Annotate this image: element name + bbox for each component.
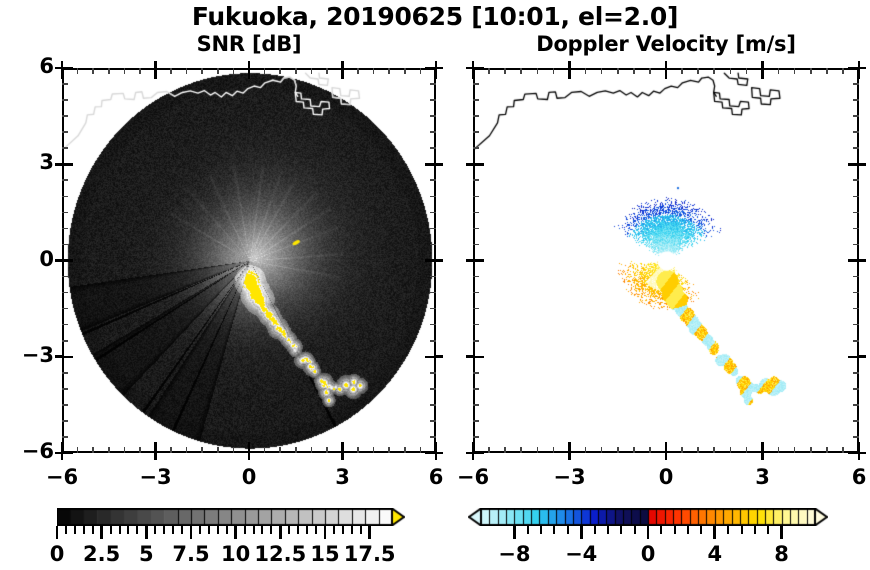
axis-tick xyxy=(488,447,490,453)
axis-tick xyxy=(746,447,748,453)
colorbar-minor-tick xyxy=(163,526,165,534)
axis-tick xyxy=(430,292,436,294)
axis-tick xyxy=(62,244,68,246)
colorbar-minor-tick xyxy=(607,526,609,534)
axis-tick xyxy=(248,68,251,79)
colorbar-minor-tick xyxy=(208,526,210,534)
axis-tick xyxy=(341,442,344,453)
axis-tick xyxy=(473,420,479,422)
axis-tick xyxy=(264,447,266,453)
axis-tick xyxy=(553,68,555,74)
axis-tick xyxy=(859,452,866,455)
axis-tick xyxy=(473,147,479,149)
axis-tick xyxy=(404,447,406,453)
axis-tick xyxy=(62,372,68,374)
axis-tick xyxy=(430,308,436,310)
colorbar-minor-tick xyxy=(634,526,636,534)
axis-tick xyxy=(55,259,62,262)
colorbar-minor-tick xyxy=(620,526,622,534)
axis-tick xyxy=(853,308,859,310)
colorbar-minor-tick xyxy=(553,526,555,534)
axis-tick xyxy=(154,442,157,453)
axis-tick xyxy=(473,436,479,438)
x-axis-tick-label: −3 xyxy=(126,465,186,489)
axis-tick xyxy=(473,131,479,133)
axis-tick xyxy=(853,228,859,230)
axis-tick xyxy=(233,447,235,453)
axis-tick xyxy=(810,68,812,74)
axis-tick xyxy=(62,196,68,198)
y-axis-tick-label: 6 xyxy=(10,54,54,78)
x-axis-tick-label: 0 xyxy=(636,465,696,489)
axis-tick xyxy=(853,83,859,85)
axis-tick xyxy=(473,259,484,262)
colorbar-minor-tick xyxy=(199,526,201,534)
axis-tick xyxy=(420,447,422,453)
axis-tick xyxy=(473,340,479,342)
axis-tick xyxy=(697,68,699,74)
axis-tick xyxy=(853,404,859,406)
axis-tick xyxy=(62,212,68,214)
axis-tick xyxy=(601,68,603,74)
colorbar-tick-label: 17.5 xyxy=(330,542,410,566)
axis-tick xyxy=(472,68,475,79)
colorbar-minor-tick xyxy=(253,526,255,534)
axis-tick xyxy=(778,68,780,74)
colorbar-minor-tick xyxy=(351,526,353,534)
axis-tick xyxy=(473,324,479,326)
axis-tick xyxy=(746,68,748,74)
axis-tick xyxy=(761,453,764,460)
axis-tick xyxy=(430,131,436,133)
colorbar-minor-tick xyxy=(154,526,156,534)
axis-tick xyxy=(730,447,732,453)
axis-tick xyxy=(425,259,436,262)
axis-tick xyxy=(430,388,436,390)
colorbar-minor-tick xyxy=(127,526,129,534)
axis-tick xyxy=(62,308,68,310)
axis-tick xyxy=(473,163,484,166)
axis-tick xyxy=(139,68,141,74)
axis-tick xyxy=(388,447,390,453)
colorbar-tick-label: 8 xyxy=(742,542,822,566)
axis-tick xyxy=(436,355,443,358)
axis-tick xyxy=(585,68,587,74)
axis-tick xyxy=(617,447,619,453)
axis-tick xyxy=(62,147,68,149)
axis-tick xyxy=(62,179,68,181)
axis-tick xyxy=(61,68,64,79)
axis-tick xyxy=(373,447,375,453)
axis-tick xyxy=(388,68,390,74)
axis-tick xyxy=(853,420,859,422)
axis-tick xyxy=(859,163,866,166)
axis-tick xyxy=(430,83,436,85)
axis-tick xyxy=(466,163,473,166)
axis-tick xyxy=(217,68,219,74)
colorbar-minor-tick xyxy=(181,526,183,534)
colorbar-minor-tick xyxy=(315,526,317,534)
axis-tick xyxy=(326,447,328,453)
axis-tick xyxy=(842,447,844,453)
axis-tick xyxy=(617,68,619,74)
axis-tick xyxy=(473,308,479,310)
axis-tick xyxy=(201,68,203,74)
axis-tick xyxy=(848,259,859,262)
axis-tick xyxy=(853,292,859,294)
axis-tick xyxy=(154,61,157,68)
axis-tick xyxy=(62,131,68,133)
axis-tick xyxy=(858,68,861,79)
axis-tick xyxy=(430,228,436,230)
colorbar-minor-tick xyxy=(333,526,335,534)
colorbar-minor-tick xyxy=(567,526,569,534)
axis-tick xyxy=(248,453,251,460)
x-axis-tick-label: 6 xyxy=(829,465,870,489)
axis-tick xyxy=(436,259,443,262)
colorbar-minor-tick xyxy=(342,526,344,534)
axis-tick xyxy=(473,115,479,117)
axis-tick xyxy=(186,447,188,453)
axis-tick xyxy=(473,372,479,374)
axis-tick xyxy=(430,212,436,214)
axis-tick xyxy=(62,276,68,278)
colorbar-major-tick xyxy=(145,526,148,539)
colorbar-minor-tick xyxy=(674,526,676,534)
axis-tick xyxy=(853,147,859,149)
axis-tick xyxy=(55,163,62,166)
axis-tick xyxy=(341,453,344,460)
axis-tick xyxy=(848,163,859,166)
axis-tick xyxy=(473,404,479,406)
axis-tick xyxy=(568,68,571,79)
axis-tick xyxy=(649,68,651,74)
colorbar-major-tick xyxy=(713,526,716,539)
axis-tick xyxy=(633,447,635,453)
axis-tick xyxy=(853,212,859,214)
axis-tick xyxy=(520,447,522,453)
axis-tick xyxy=(201,447,203,453)
colorbar-major-tick xyxy=(324,526,327,539)
axis-tick xyxy=(436,163,443,166)
axis-tick xyxy=(713,68,715,74)
axis-tick xyxy=(730,68,732,74)
colorbar-minor-tick xyxy=(270,526,272,534)
axis-tick xyxy=(601,447,603,453)
axis-tick xyxy=(466,259,473,262)
axis-tick xyxy=(62,83,68,85)
colorbar-minor-tick xyxy=(110,526,112,534)
axis-tick xyxy=(826,447,828,453)
axis-tick xyxy=(124,447,126,453)
axis-tick xyxy=(108,447,110,453)
colorbar-minor-tick xyxy=(360,526,362,534)
axis-tick xyxy=(761,442,764,453)
colorbar-major-tick xyxy=(647,526,650,539)
y-axis-tick-label: 0 xyxy=(10,247,54,271)
axis-tick xyxy=(154,453,157,460)
axis-tick xyxy=(430,244,436,246)
axis-tick xyxy=(537,68,539,74)
axis-tick xyxy=(420,68,422,74)
axis-tick xyxy=(430,196,436,198)
colorbar-minor-tick xyxy=(594,526,596,534)
axis-tick xyxy=(62,228,68,230)
colorbar-major-tick xyxy=(368,526,371,539)
colorbar-minor-tick xyxy=(65,526,67,534)
axis-tick xyxy=(430,324,436,326)
axis-tick xyxy=(62,163,73,166)
colorbar-minor-tick xyxy=(540,526,542,534)
axis-tick xyxy=(436,67,443,70)
axis-tick xyxy=(466,452,473,455)
axis-tick xyxy=(341,68,344,79)
axis-tick xyxy=(62,67,73,70)
axis-tick xyxy=(311,447,313,453)
colorbar-minor-tick xyxy=(306,526,308,534)
colorbar-major-tick xyxy=(780,526,783,539)
axis-tick xyxy=(430,115,436,117)
x-axis-tick-label: −3 xyxy=(540,465,600,489)
axis-tick xyxy=(504,447,506,453)
axis-tick xyxy=(248,61,251,68)
velocity-plot-area[interactable] xyxy=(473,68,859,453)
colorbar-minor-tick xyxy=(527,526,529,534)
axis-tick xyxy=(473,179,479,181)
axis-tick xyxy=(853,340,859,342)
axis-tick xyxy=(436,452,443,455)
axis-tick xyxy=(92,447,94,453)
axis-tick xyxy=(473,196,479,198)
axis-tick xyxy=(186,68,188,74)
axis-tick xyxy=(430,179,436,181)
axis-tick xyxy=(853,388,859,390)
axis-tick xyxy=(473,388,479,390)
axis-tick xyxy=(681,68,683,74)
colorbar-minor-tick xyxy=(226,526,228,534)
axis-tick xyxy=(430,147,436,149)
axis-tick xyxy=(665,68,668,79)
axis-tick xyxy=(853,324,859,326)
colorbar-minor-tick xyxy=(727,526,729,534)
axis-tick xyxy=(553,447,555,453)
colorbar-minor-tick xyxy=(288,526,290,534)
axis-tick xyxy=(373,68,375,74)
x-axis-tick-label: −6 xyxy=(32,465,92,489)
axis-tick xyxy=(697,447,699,453)
axis-tick xyxy=(473,452,484,455)
axis-tick xyxy=(473,212,479,214)
velocity-radar-image xyxy=(475,70,859,453)
axis-tick xyxy=(154,68,157,79)
snr-colorbar-gradient xyxy=(57,508,405,526)
colorbar-minor-tick xyxy=(660,526,662,534)
axis-tick xyxy=(233,68,235,74)
axis-tick xyxy=(430,372,436,374)
axis-tick xyxy=(326,68,328,74)
axis-tick xyxy=(473,292,479,294)
axis-tick xyxy=(853,436,859,438)
colorbar-major-tick xyxy=(190,526,193,539)
colorbar-minor-tick xyxy=(119,526,121,534)
velocity-colorbar[interactable]: −8−4048 xyxy=(468,508,828,568)
velocity-colorbar-gradient xyxy=(468,508,828,526)
axis-tick xyxy=(62,340,68,342)
colorbar-major-tick xyxy=(100,526,103,539)
x-axis-tick-label: 3 xyxy=(313,465,373,489)
axis-tick xyxy=(77,447,79,453)
axis-tick xyxy=(430,436,436,438)
axis-tick xyxy=(473,228,479,230)
axis-tick xyxy=(55,67,62,70)
axis-tick xyxy=(473,356,484,359)
axis-tick xyxy=(62,99,68,101)
axis-tick xyxy=(853,131,859,133)
snr-plot-area[interactable] xyxy=(62,68,436,453)
axis-tick xyxy=(504,68,506,74)
axis-tick xyxy=(853,179,859,181)
axis-tick xyxy=(568,442,571,453)
axis-tick xyxy=(761,61,764,68)
axis-tick xyxy=(430,99,436,101)
colorbar-minor-tick xyxy=(700,526,702,534)
axis-tick xyxy=(665,442,668,453)
axis-tick xyxy=(248,442,251,453)
axis-tick xyxy=(92,68,94,74)
axis-tick xyxy=(488,68,490,74)
page-title: Fukuoka, 20190625 [10:01, el=2.0] xyxy=(0,2,870,31)
axis-tick xyxy=(473,99,479,101)
axis-tick xyxy=(62,115,68,117)
axis-tick xyxy=(853,244,859,246)
axis-tick xyxy=(279,68,281,74)
axis-tick xyxy=(473,83,479,85)
axis-tick xyxy=(435,68,438,79)
axis-tick xyxy=(62,259,73,262)
colorbar-minor-tick xyxy=(261,526,263,534)
colorbar-major-tick xyxy=(580,526,583,539)
axis-tick xyxy=(537,447,539,453)
axis-tick xyxy=(264,68,266,74)
axis-tick xyxy=(810,447,812,453)
y-axis-tick-label: −3 xyxy=(10,343,54,367)
x-axis-tick-label: −6 xyxy=(443,465,503,489)
axis-tick xyxy=(62,404,68,406)
axis-tick xyxy=(425,356,436,359)
axis-tick xyxy=(425,163,436,166)
axis-tick xyxy=(108,68,110,74)
axis-tick xyxy=(77,68,79,74)
x-axis-tick-label: 3 xyxy=(733,465,793,489)
axis-tick xyxy=(466,67,473,70)
colorbar-major-tick xyxy=(234,526,237,539)
axis-tick xyxy=(430,404,436,406)
axis-tick xyxy=(55,355,62,358)
axis-tick xyxy=(761,68,764,79)
colorbar-minor-tick xyxy=(74,526,76,534)
axis-tick xyxy=(357,447,359,453)
axis-tick xyxy=(713,447,715,453)
axis-tick xyxy=(55,452,62,455)
snr-colorbar[interactable]: 02.557.51012.51517.5 xyxy=(57,508,405,568)
axis-tick xyxy=(859,67,866,70)
colorbar-major-tick xyxy=(56,526,59,539)
axis-tick xyxy=(859,259,866,262)
axis-tick xyxy=(853,196,859,198)
axis-tick xyxy=(853,115,859,117)
velocity-panel-title: Doppler Velocity [m/s] xyxy=(473,32,859,56)
axis-tick xyxy=(62,356,73,359)
axis-tick xyxy=(568,453,571,460)
colorbar-minor-tick xyxy=(136,526,138,534)
colorbar-major-tick xyxy=(513,526,516,539)
axis-tick xyxy=(520,68,522,74)
axis-tick xyxy=(681,447,683,453)
snr-radar-image xyxy=(64,70,436,453)
axis-tick xyxy=(859,355,866,358)
axis-tick xyxy=(585,447,587,453)
axis-tick xyxy=(62,436,68,438)
axis-tick xyxy=(341,61,344,68)
axis-tick xyxy=(279,447,281,453)
colorbar-minor-tick xyxy=(83,526,85,534)
axis-tick xyxy=(794,447,796,453)
y-axis-tick-label: −6 xyxy=(10,439,54,463)
axis-tick xyxy=(794,68,796,74)
axis-tick xyxy=(62,292,68,294)
axis-tick xyxy=(170,447,172,453)
y-axis-tick-label: 3 xyxy=(10,150,54,174)
x-axis-tick-label: 0 xyxy=(219,465,279,489)
axis-tick xyxy=(124,68,126,74)
axis-tick xyxy=(826,68,828,74)
axis-tick xyxy=(139,447,141,453)
colorbar-minor-tick xyxy=(92,526,94,534)
axis-tick xyxy=(430,340,436,342)
colorbar-minor-tick xyxy=(767,526,769,534)
axis-tick xyxy=(473,67,484,70)
axis-tick xyxy=(853,372,859,374)
axis-tick xyxy=(430,276,436,278)
axis-tick xyxy=(842,68,844,74)
colorbar-minor-tick xyxy=(741,526,743,534)
colorbar-minor-tick xyxy=(217,526,219,534)
axis-tick xyxy=(62,388,68,390)
axis-tick xyxy=(466,355,473,358)
axis-tick xyxy=(568,61,571,68)
axis-tick xyxy=(357,68,359,74)
axis-tick xyxy=(62,452,73,455)
axis-tick xyxy=(853,99,859,101)
axis-tick xyxy=(295,447,297,453)
axis-tick xyxy=(665,453,668,460)
colorbar-minor-tick xyxy=(754,526,756,534)
axis-tick xyxy=(311,68,313,74)
axis-tick xyxy=(649,447,651,453)
axis-tick xyxy=(665,61,668,68)
axis-tick xyxy=(217,447,219,453)
axis-tick xyxy=(633,68,635,74)
axis-tick xyxy=(62,420,68,422)
colorbar-minor-tick xyxy=(297,526,299,534)
axis-tick xyxy=(62,324,68,326)
colorbar-minor-tick xyxy=(244,526,246,534)
axis-tick xyxy=(848,356,859,359)
snr-panel-title: SNR [dB] xyxy=(62,32,436,56)
colorbar-minor-tick xyxy=(172,526,174,534)
axis-tick xyxy=(853,276,859,278)
colorbar-major-tick xyxy=(279,526,282,539)
